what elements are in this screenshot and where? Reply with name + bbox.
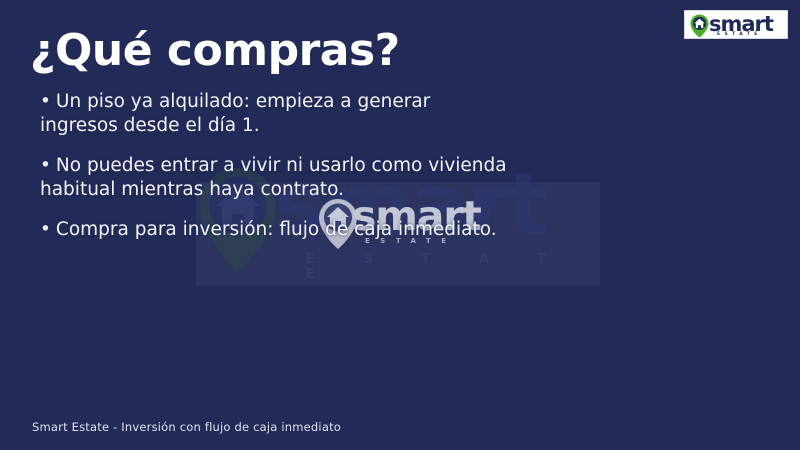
bullet-text: Un piso ya alquilado: empieza a generar … xyxy=(40,91,430,136)
slide-footer: Smart Estate - Inversión con flujo de ca… xyxy=(32,420,341,434)
brand-logo-sub: ESTATE xyxy=(717,32,762,37)
bullet-marker: • xyxy=(40,155,51,176)
bullet-list: •Un piso ya alquilado: empieza a generar… xyxy=(40,90,510,257)
list-item: •No puedes entrar a vivir ni usarlo como… xyxy=(40,154,510,203)
list-item: •Compra para inversión: flujo de caja in… xyxy=(40,218,510,242)
bullet-text: Compra para inversión: flujo de caja inm… xyxy=(56,219,497,240)
brand-logo: smart ESTATE xyxy=(684,10,788,39)
bullet-marker: • xyxy=(40,91,51,112)
bullet-text: No puedes entrar a vivir ni usarlo como … xyxy=(40,155,507,200)
bullet-marker: • xyxy=(40,219,51,240)
map-pin-house-icon xyxy=(690,14,709,38)
list-item: •Un piso ya alquilado: empieza a generar… xyxy=(40,90,510,139)
slide-canvas: smart E S T A T E smart ESTATE smart EST… xyxy=(0,0,800,450)
page-title: ¿Qué compras? xyxy=(30,26,400,77)
